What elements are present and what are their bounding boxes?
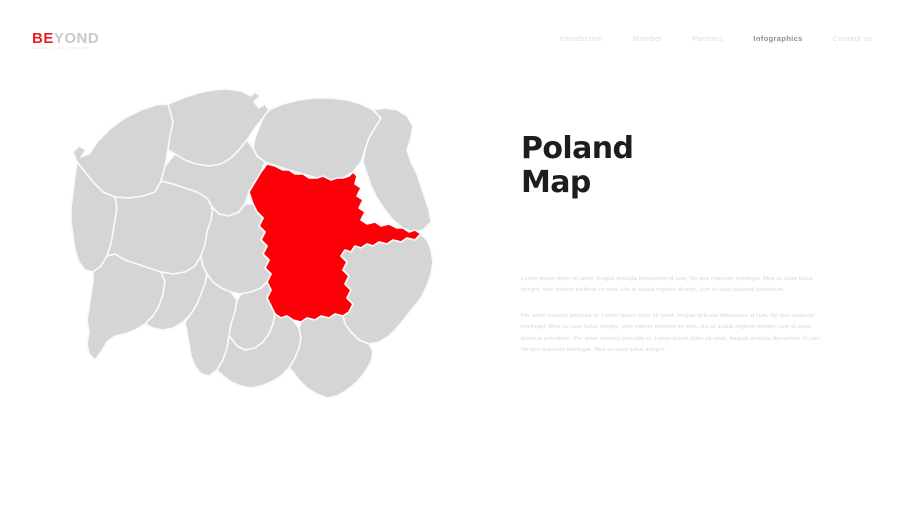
nav-item-member[interactable]: Member xyxy=(633,34,663,43)
nav-item-infographics[interactable]: Infographics xyxy=(753,34,802,43)
nav-item-introduction[interactable]: Introduction xyxy=(559,34,602,43)
nav-item-contact-us[interactable]: Contact us xyxy=(833,34,872,43)
page-header: BEYOND PRESENTATION TEMPLATE Introductio… xyxy=(0,0,900,80)
brand-logo[interactable]: BEYOND PRESENTATION TEMPLATE xyxy=(32,31,99,51)
map-region-lublin[interactable] xyxy=(341,234,433,344)
brand-wordmark: BEYOND xyxy=(32,31,99,46)
nav-item-partners[interactable]: Partners xyxy=(692,34,723,43)
main-navigation: Introduction Member Partners Infographic… xyxy=(559,34,872,43)
brand-tagline: PRESENTATION TEMPLATE xyxy=(32,48,99,51)
page-title: Poland Map xyxy=(521,132,831,199)
poland-map xyxy=(55,80,475,440)
content-panel: Poland Map xyxy=(521,132,831,199)
body-copy: Lorem ipsum dolor sit amet, feugiat deli… xyxy=(521,274,824,357)
brand-name-accent: BE xyxy=(32,30,54,47)
map-region-lower-silesian[interactable] xyxy=(87,254,165,360)
brand-name-rest: YOND xyxy=(54,30,99,47)
slide-root: BEYOND PRESENTATION TEMPLATE Introductio… xyxy=(0,0,900,506)
poland-map-svg xyxy=(55,80,475,440)
paragraph-2: Per amet nonumy periculis ei. Lorem ipsu… xyxy=(521,311,824,357)
paragraph-1: Lorem ipsum dolor sit amet, feugiat deli… xyxy=(521,274,824,297)
